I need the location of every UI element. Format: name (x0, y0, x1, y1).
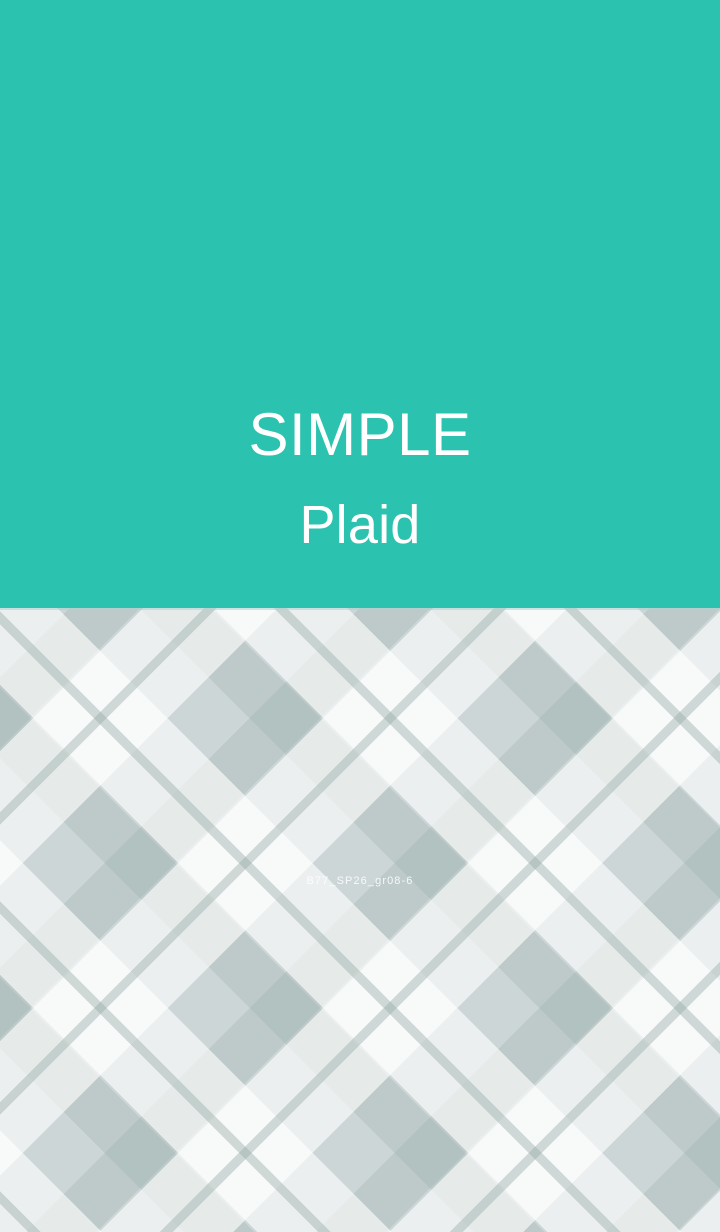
plaid-hairline-down-left (0, 608, 720, 1232)
title-block: SIMPLE Plaid (0, 405, 720, 552)
plaid-top-edge-divider (0, 608, 720, 610)
page-subtitle: Plaid (0, 498, 720, 552)
plaid-pattern-area (0, 608, 720, 1232)
theme-preview-canvas: SIMPLE Plaid B77_SP26_gr08-6 (0, 0, 720, 1232)
watermark-label: B77_SP26_gr08-6 (0, 875, 720, 887)
page-title: SIMPLE (0, 405, 720, 465)
header-banner: SIMPLE Plaid (0, 0, 720, 608)
